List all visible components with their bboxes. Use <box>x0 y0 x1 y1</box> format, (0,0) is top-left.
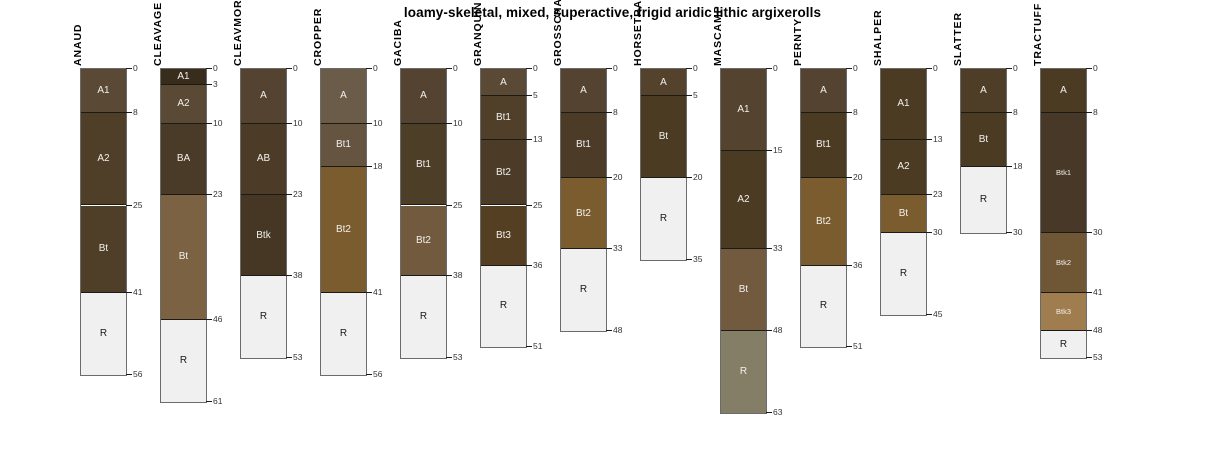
depth-tick <box>366 292 372 293</box>
depth-label: 38 <box>293 270 302 280</box>
depth-tick <box>206 194 212 195</box>
horizon-label: Bt2 <box>561 208 606 219</box>
horizon-label: A <box>561 85 606 96</box>
depth-tick <box>846 68 852 69</box>
horizon-r: R <box>641 178 686 260</box>
horizon-bt3: Bt3 <box>481 206 526 266</box>
depth-label: 53 <box>453 352 462 362</box>
horizon-label: A1 <box>881 98 926 109</box>
depth-tick <box>286 68 292 69</box>
horizon-r: R <box>1041 331 1086 358</box>
profile-column: ABt1Bt2R <box>800 68 847 348</box>
soil-profile-chart: ANAUDA1A2BtR08254156CLEAVAGEA1A2BABtR031… <box>0 0 1225 450</box>
pedon-label-cleavage: CLEAVAGE <box>152 2 164 66</box>
pedon-label-grosschat: GROSSCHAT <box>552 0 564 66</box>
horizon-label: Btk1 <box>1041 168 1086 177</box>
depth-label: 0 <box>213 63 218 73</box>
horizon-label: Bt <box>961 134 1006 145</box>
horizon-label: Bt3 <box>481 230 526 241</box>
depth-label: 56 <box>373 369 382 379</box>
depth-label: 38 <box>453 270 462 280</box>
horizon-r: R <box>241 276 286 358</box>
horizon-bt: Bt <box>961 113 1006 168</box>
depth-tick <box>366 166 372 167</box>
horizon-bt2: Bt2 <box>321 167 366 293</box>
pedon-label-pernty: PERNTY <box>792 18 804 66</box>
depth-label: 33 <box>773 243 782 253</box>
horizon-label: Bt2 <box>401 235 446 246</box>
depth-tick <box>446 205 452 206</box>
horizon-a: A <box>561 69 606 113</box>
depth-tick <box>606 177 612 178</box>
depth-tick <box>526 139 532 140</box>
horizon-label: R <box>961 194 1006 205</box>
depth-tick <box>526 68 532 69</box>
depth-label: 41 <box>1093 287 1102 297</box>
pedon-label-granquin: GRANQUIN <box>472 2 484 66</box>
depth-label: 0 <box>453 63 458 73</box>
horizon-label: Bt1 <box>401 159 446 170</box>
depth-tick <box>686 259 692 260</box>
horizon-a2: A2 <box>161 85 206 123</box>
depth-tick <box>446 275 452 276</box>
horizon-a: A <box>961 69 1006 113</box>
horizon-bt1: Bt1 <box>401 124 446 206</box>
depth-tick <box>126 68 132 69</box>
horizon-label: A <box>401 90 446 101</box>
profile-column: ABtk1Btk2Btk3R <box>1040 68 1087 359</box>
horizon-a2: A2 <box>81 113 126 206</box>
profile-column: ABtR <box>640 68 687 261</box>
depth-tick <box>926 139 932 140</box>
depth-label: 0 <box>1013 63 1018 73</box>
depth-tick <box>686 177 692 178</box>
depth-tick <box>766 330 772 331</box>
depth-label: 13 <box>533 134 542 144</box>
pedon-label-tractuff: TRACTUFF <box>1032 3 1044 66</box>
depth-tick <box>366 123 372 124</box>
horizon-a: A <box>241 69 286 124</box>
horizon-label: A <box>321 90 366 101</box>
depth-tick <box>446 68 452 69</box>
depth-tick <box>766 248 772 249</box>
depth-label: 25 <box>133 200 142 210</box>
depth-tick <box>526 265 532 266</box>
depth-tick <box>526 346 532 347</box>
depth-tick <box>926 194 932 195</box>
profile-column: A1A2BtR <box>80 68 127 376</box>
horizon-bt1: Bt1 <box>481 96 526 140</box>
profile-column: ABtR <box>960 68 1007 234</box>
depth-label: 8 <box>1093 107 1098 117</box>
depth-label: 30 <box>933 227 942 237</box>
horizon-label: A2 <box>161 98 206 109</box>
depth-label: 25 <box>533 200 542 210</box>
pedon-label-mascamp: MASCAMP <box>712 5 724 66</box>
depth-tick <box>846 112 852 113</box>
horizon-a1: A1 <box>81 69 126 113</box>
horizon-a1: A1 <box>721 69 766 151</box>
horizon-label: A <box>481 77 526 88</box>
horizon-label: Bt <box>161 251 206 262</box>
depth-tick <box>526 95 532 96</box>
horizon-label: R <box>1041 339 1086 350</box>
depth-tick <box>446 123 452 124</box>
horizon-r: R <box>321 293 366 375</box>
horizon-bt1: Bt1 <box>561 113 606 179</box>
depth-label: 41 <box>133 287 142 297</box>
depth-tick <box>126 374 132 375</box>
horizon-r: R <box>801 266 846 348</box>
horizon-label: A1 <box>721 104 766 115</box>
depth-tick <box>766 68 772 69</box>
horizon-label: R <box>321 328 366 339</box>
depth-label: 0 <box>613 63 618 73</box>
horizon-label: R <box>881 268 926 279</box>
depth-label: 45 <box>933 309 942 319</box>
depth-label: 0 <box>133 63 138 73</box>
horizon-a: A <box>481 69 526 96</box>
depth-tick <box>206 68 212 69</box>
horizon-r: R <box>881 233 926 315</box>
depth-label: 35 <box>693 254 702 264</box>
horizon-label: Bt <box>641 131 686 142</box>
horizon-bt: Bt <box>81 206 126 293</box>
depth-tick <box>206 84 212 85</box>
depth-label: 48 <box>773 325 782 335</box>
depth-tick <box>926 314 932 315</box>
depth-tick <box>926 232 932 233</box>
horizon-r: R <box>81 293 126 375</box>
horizon-bt2: Bt2 <box>801 178 846 265</box>
depth-tick <box>1006 112 1012 113</box>
depth-tick <box>126 112 132 113</box>
depth-label: 23 <box>293 189 302 199</box>
depth-label: 30 <box>1013 227 1022 237</box>
depth-tick <box>1086 232 1092 233</box>
depth-label: 36 <box>533 260 542 270</box>
depth-tick <box>526 205 532 206</box>
horizon-label: AB <box>241 153 286 164</box>
horizon-btk2: Btk2 <box>1041 233 1086 293</box>
depth-label: 0 <box>933 63 938 73</box>
horizon-label: A2 <box>81 153 126 164</box>
horizon-label: Btk2 <box>1041 258 1086 267</box>
depth-label: 23 <box>933 189 942 199</box>
horizon-a: A <box>801 69 846 113</box>
depth-tick <box>1086 112 1092 113</box>
profile-column: ABt1Bt2R <box>320 68 367 376</box>
depth-tick <box>366 68 372 69</box>
profile-column: ABt1Bt2Bt3R <box>480 68 527 348</box>
horizon-a1: A1 <box>881 69 926 140</box>
horizon-label: R <box>401 311 446 322</box>
depth-label: 53 <box>1093 352 1102 362</box>
horizon-label: A <box>1041 85 1086 96</box>
pedon-label-horsetrack: HORSETRACK <box>632 0 644 66</box>
horizon-bt2: Bt2 <box>401 206 446 277</box>
depth-tick <box>846 346 852 347</box>
depth-tick <box>286 194 292 195</box>
depth-tick <box>286 275 292 276</box>
depth-label: 5 <box>533 90 538 100</box>
depth-label: 51 <box>853 341 862 351</box>
horizon-label: A <box>641 77 686 88</box>
depth-label: 10 <box>293 118 302 128</box>
profile-column: ABt1Bt2R <box>400 68 447 359</box>
depth-tick <box>606 248 612 249</box>
horizon-label: A <box>961 85 1006 96</box>
horizon-label: R <box>241 311 286 322</box>
depth-tick <box>286 123 292 124</box>
depth-label: 8 <box>133 107 138 117</box>
depth-tick <box>926 68 932 69</box>
pedon-label-anaud: ANAUD <box>72 24 84 66</box>
depth-label: 33 <box>613 243 622 253</box>
depth-label: 20 <box>613 172 622 182</box>
horizon-label: Btk3 <box>1041 307 1086 316</box>
horizon-label: R <box>641 213 686 224</box>
horizon-a: A <box>1041 69 1086 113</box>
depth-label: 15 <box>773 145 782 155</box>
horizon-r: R <box>161 320 206 402</box>
horizon-r: R <box>961 167 1006 233</box>
depth-label: 18 <box>1013 161 1022 171</box>
horizon-label: A <box>241 90 286 101</box>
depth-label: 53 <box>293 352 302 362</box>
horizon-label: R <box>561 284 606 295</box>
depth-label: 41 <box>373 287 382 297</box>
depth-label: 46 <box>213 314 222 324</box>
depth-tick <box>286 357 292 358</box>
horizon-bt2: Bt2 <box>561 178 606 249</box>
depth-tick <box>1006 68 1012 69</box>
horizon-a2: A2 <box>881 140 926 195</box>
horizon-label: Bt1 <box>321 139 366 150</box>
horizon-label: Bt <box>721 284 766 295</box>
depth-tick <box>606 68 612 69</box>
depth-tick <box>206 319 212 320</box>
depth-label: 0 <box>293 63 298 73</box>
depth-tick <box>446 357 452 358</box>
depth-label: 20 <box>693 172 702 182</box>
depth-tick <box>1006 232 1012 233</box>
depth-tick <box>1086 330 1092 331</box>
depth-label: 0 <box>533 63 538 73</box>
depth-tick <box>1086 292 1092 293</box>
depth-label: 13 <box>933 134 942 144</box>
depth-label: 25 <box>453 200 462 210</box>
horizon-btk3: Btk3 <box>1041 293 1086 331</box>
horizon-label: A2 <box>881 161 926 172</box>
pedon-label-slatter: SLATTER <box>952 12 964 66</box>
depth-label: 61 <box>213 396 222 406</box>
horizon-bt: Bt <box>641 96 686 178</box>
horizon-label: A1 <box>161 71 206 82</box>
horizon-r: R <box>481 266 526 348</box>
pedon-label-gaciba: GACIBA <box>392 19 404 66</box>
depth-label: 20 <box>853 172 862 182</box>
horizon-ba: BA <box>161 124 206 195</box>
depth-tick <box>206 123 212 124</box>
depth-label: 8 <box>853 107 858 117</box>
horizon-a: A <box>401 69 446 124</box>
horizon-label: Bt2 <box>801 216 846 227</box>
depth-label: 0 <box>853 63 858 73</box>
pedon-label-cleavmor: CLEAVMOR <box>232 0 244 66</box>
horizon-bt: Bt <box>161 195 206 321</box>
depth-tick <box>686 95 692 96</box>
horizon-label: Bt1 <box>801 139 846 150</box>
depth-label: 10 <box>453 118 462 128</box>
depth-tick <box>126 205 132 206</box>
depth-tick <box>686 68 692 69</box>
pedon-label-cropper: CROPPER <box>312 8 324 66</box>
horizon-r: R <box>721 331 766 413</box>
profile-column: A1A2BtR <box>720 68 767 414</box>
depth-label: 36 <box>853 260 862 270</box>
horizon-label: Bt1 <box>561 139 606 150</box>
depth-label: 5 <box>693 90 698 100</box>
depth-label: 48 <box>1093 325 1102 335</box>
horizon-label: Bt <box>81 243 126 254</box>
horizon-label: A <box>801 85 846 96</box>
profile-column: A1A2BtR <box>880 68 927 316</box>
horizon-a: A <box>641 69 686 96</box>
horizon-bt: Bt <box>721 249 766 331</box>
depth-label: 0 <box>773 63 778 73</box>
horizon-label: BA <box>161 153 206 164</box>
horizon-bt2: Bt2 <box>481 140 526 206</box>
horizon-bt1: Bt1 <box>801 113 846 179</box>
depth-label: 23 <box>213 189 222 199</box>
horizon-label: Bt2 <box>481 167 526 178</box>
horizon-bt: Bt <box>881 195 926 233</box>
horizon-label: Bt <box>881 208 926 219</box>
horizon-label: R <box>81 328 126 339</box>
depth-tick <box>1006 166 1012 167</box>
depth-label: 18 <box>373 161 382 171</box>
horizon-ab: AB <box>241 124 286 195</box>
profile-column: AABBtkR <box>240 68 287 359</box>
profile-column: ABt1Bt2R <box>560 68 607 332</box>
depth-label: 48 <box>613 325 622 335</box>
horizon-label: R <box>161 355 206 366</box>
depth-label: 8 <box>613 107 618 117</box>
depth-tick <box>206 401 212 402</box>
depth-label: 63 <box>773 407 782 417</box>
profile-column: A1A2BABtR <box>160 68 207 403</box>
depth-tick <box>126 292 132 293</box>
horizon-label: Btk <box>241 230 286 241</box>
horizon-r: R <box>561 249 606 331</box>
horizon-r: R <box>401 276 446 358</box>
horizon-label: R <box>481 300 526 311</box>
horizon-label: R <box>801 300 846 311</box>
depth-tick <box>1086 68 1092 69</box>
horizon-btk: Btk <box>241 195 286 277</box>
depth-label: 10 <box>213 118 222 128</box>
horizon-a1: A1 <box>161 69 206 85</box>
depth-label: 10 <box>373 118 382 128</box>
depth-tick <box>366 374 372 375</box>
depth-tick <box>766 150 772 151</box>
depth-label: 56 <box>133 369 142 379</box>
depth-label: 0 <box>693 63 698 73</box>
horizon-label: Bt2 <box>321 224 366 235</box>
depth-label: 8 <box>1013 107 1018 117</box>
horizon-label: A2 <box>721 194 766 205</box>
depth-label: 30 <box>1093 227 1102 237</box>
depth-label: 0 <box>1093 63 1098 73</box>
horizon-bt1: Bt1 <box>321 124 366 168</box>
depth-tick <box>846 177 852 178</box>
horizon-a: A <box>321 69 366 124</box>
horizon-label: Bt1 <box>481 112 526 123</box>
depth-tick <box>606 330 612 331</box>
horizon-btk1: Btk1 <box>1041 113 1086 233</box>
pedon-label-shalper: SHALPER <box>872 10 884 66</box>
depth-tick <box>846 265 852 266</box>
depth-label: 0 <box>373 63 378 73</box>
depth-tick <box>766 412 772 413</box>
depth-label: 3 <box>213 79 218 89</box>
horizon-label: A1 <box>81 85 126 96</box>
horizon-label: R <box>721 366 766 377</box>
depth-tick <box>1086 357 1092 358</box>
horizon-a2: A2 <box>721 151 766 249</box>
depth-tick <box>606 112 612 113</box>
depth-label: 51 <box>533 341 542 351</box>
